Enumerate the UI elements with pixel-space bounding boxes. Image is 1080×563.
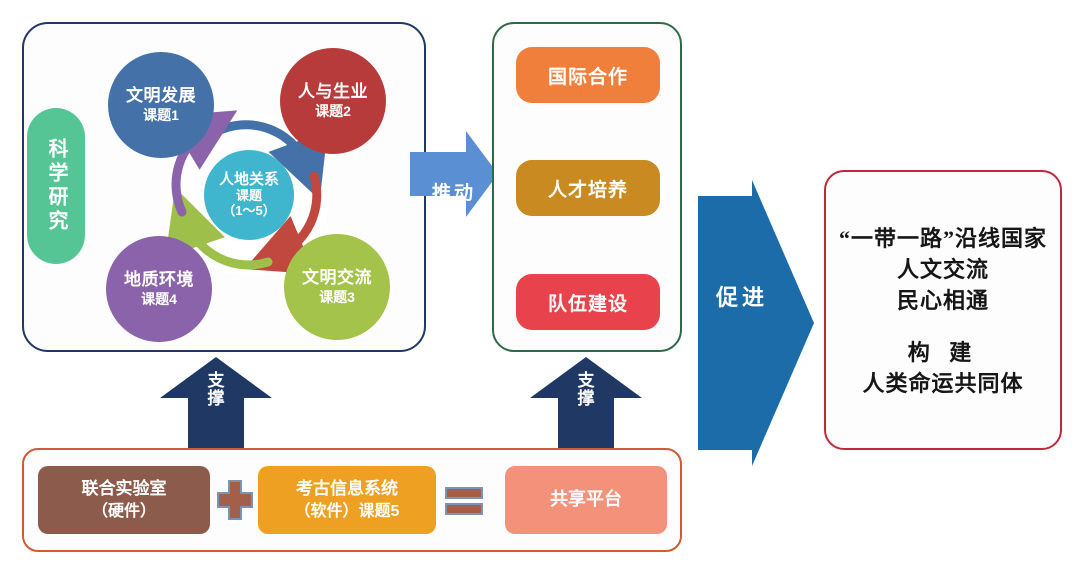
vision-line-4: 构 建 [908,337,979,368]
topic-4-title: 地质环境 [124,270,194,289]
topic-1-title: 文明发展 [126,86,196,105]
center-range: （1～5） [222,204,275,219]
push-arrow-icon [408,128,500,220]
info-system-line2: （软件）课题5 [295,502,400,521]
capacity-item-team-building[interactable]: 队伍建设 [516,274,660,330]
capacity-item-talent-training[interactable]: 人才培养 [516,160,660,216]
topic-3-number: 课题3 [319,290,355,306]
joint-lab-line1: 联合实验室 [82,479,167,499]
joint-lab-line2: （硬件） [92,502,156,521]
vision-line-3: 民心相通 [897,285,989,316]
support-arrow-right-icon [528,354,644,450]
science-research-label: 科学研究 [46,138,66,234]
diagram-canvas: 科学研究 文明发展 课题1 [0,0,1080,563]
promote-arrow-icon [690,178,818,468]
center-sub: 课题 [236,189,262,204]
capacity-item-international-cooperation[interactable]: 国际合作 [516,47,660,103]
topic-circle-4[interactable]: 地质环境 课题4 [106,236,212,342]
topic-2-number: 课题2 [315,104,351,120]
vision-text-block: “一带一路”沿线国家 人文交流 民心相通 构 建 人类命运共同体 [830,200,1056,422]
vision-line-1: “一带一路”沿线国家 [839,223,1047,254]
platform-box-archaeology-info-system[interactable]: 考古信息系统 （软件）课题5 [258,466,436,534]
topic-circle-3[interactable]: 文明交流 课题3 [284,234,390,340]
shared-platform-label: 共享平台 [550,489,622,511]
support-arrow-left-icon [158,354,274,450]
center-topic-circle[interactable]: 人地关系 课题 （1～5） [204,150,294,240]
science-research-pill: 科学研究 [27,108,85,264]
topic-2-title: 人与生业 [298,82,368,101]
topic-3-title: 文明交流 [302,268,372,287]
center-title: 人地关系 [219,171,279,188]
vision-line-2: 人文交流 [897,254,989,285]
topic-circle-1[interactable]: 文明发展 课题1 [108,52,214,158]
vision-line-5: 人类命运共同体 [862,368,1023,399]
platform-box-shared-platform[interactable]: 共享平台 [505,466,667,534]
topic-circle-2[interactable]: 人与生业 课题2 [280,48,386,154]
platform-box-joint-lab[interactable]: 联合实验室 （硬件） [38,466,210,534]
equals-icon [444,486,484,516]
topic-4-number: 课题4 [141,292,177,308]
topic-1-number: 课题1 [143,108,179,124]
info-system-line1: 考古信息系统 [296,479,398,499]
plus-icon [216,479,254,521]
